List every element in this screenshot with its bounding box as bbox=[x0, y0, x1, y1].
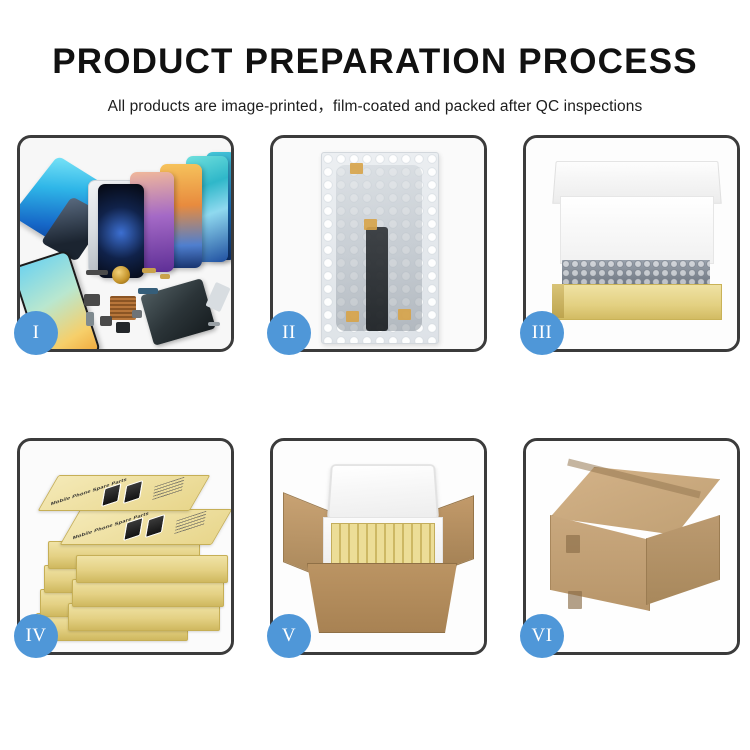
screw-icon bbox=[208, 322, 220, 326]
tweezers-icon bbox=[205, 282, 230, 312]
spare-part-icon bbox=[86, 312, 94, 326]
stacked-box bbox=[68, 603, 220, 631]
spare-part-icon bbox=[116, 322, 130, 333]
stacked-box-top-upper: Mobile Phone Spare Parts bbox=[38, 475, 211, 511]
process-step-panel-5: V bbox=[270, 438, 487, 655]
carton-body-icon bbox=[307, 563, 457, 633]
step-number-badge: II bbox=[267, 311, 311, 355]
yellow-box-front-icon bbox=[552, 284, 722, 320]
spare-part-icon bbox=[142, 268, 156, 273]
bubble-wrap-layer-icon bbox=[562, 260, 710, 286]
process-steps-grid: I II III bbox=[17, 135, 740, 655]
box-print-phone-icon bbox=[123, 480, 143, 504]
carton-tape-icon bbox=[568, 591, 582, 609]
page-header: PRODUCT PREPARATION PROCESS All products… bbox=[0, 0, 750, 116]
spare-part-icon bbox=[86, 270, 108, 275]
bubble-wrap-bag-icon bbox=[321, 152, 439, 344]
carton-front-icon bbox=[550, 515, 650, 611]
box-stack-icon: Mobile Phone Spare Parts Mobile Phone Sp… bbox=[32, 463, 228, 639]
tape-icon bbox=[364, 219, 377, 230]
speaker-coil-icon bbox=[112, 266, 130, 284]
yellow-packs-icon bbox=[331, 523, 435, 565]
foam-sheet-icon bbox=[560, 196, 714, 264]
tape-icon bbox=[350, 163, 363, 174]
box-print-feature-list bbox=[174, 511, 206, 536]
page-subtitle: All products are image-printed，film-coat… bbox=[0, 82, 750, 116]
process-step-panel-6: VI bbox=[523, 438, 740, 655]
foam-lid-icon bbox=[327, 464, 439, 520]
page-title: PRODUCT PREPARATION PROCESS bbox=[0, 0, 750, 82]
step-number-badge: IV bbox=[14, 614, 58, 658]
spare-part-icon bbox=[132, 310, 142, 318]
tape-icon bbox=[398, 309, 411, 320]
box-print-feature-list bbox=[152, 477, 184, 502]
step-number-badge: I bbox=[14, 311, 58, 355]
tape-icon bbox=[346, 311, 359, 322]
step-number-badge: V bbox=[267, 614, 311, 658]
process-step-panel-1: I bbox=[17, 135, 234, 352]
process-step-panel-3: III bbox=[523, 135, 740, 352]
stacked-box bbox=[72, 579, 224, 607]
spare-part-icon bbox=[160, 274, 170, 279]
stacked-box bbox=[76, 555, 228, 583]
spare-part-icon bbox=[100, 316, 112, 326]
phone-screen-icon bbox=[98, 184, 144, 278]
step-number-badge: VI bbox=[520, 614, 564, 658]
yellow-box-side-icon bbox=[552, 284, 564, 318]
process-step-panel-2: II bbox=[270, 135, 487, 352]
flex-cable-icon bbox=[366, 227, 388, 331]
stacked-box-top-lower: Mobile Phone Spare Parts bbox=[60, 509, 231, 545]
carton-tape-icon bbox=[566, 535, 580, 553]
step-number-badge: III bbox=[520, 311, 564, 355]
spare-part-icon bbox=[138, 288, 158, 294]
spare-part-icon bbox=[84, 294, 100, 306]
process-step-panel-4: Mobile Phone Spare Parts Mobile Phone Sp… bbox=[17, 438, 234, 655]
box-print-phone-icon bbox=[145, 514, 165, 538]
